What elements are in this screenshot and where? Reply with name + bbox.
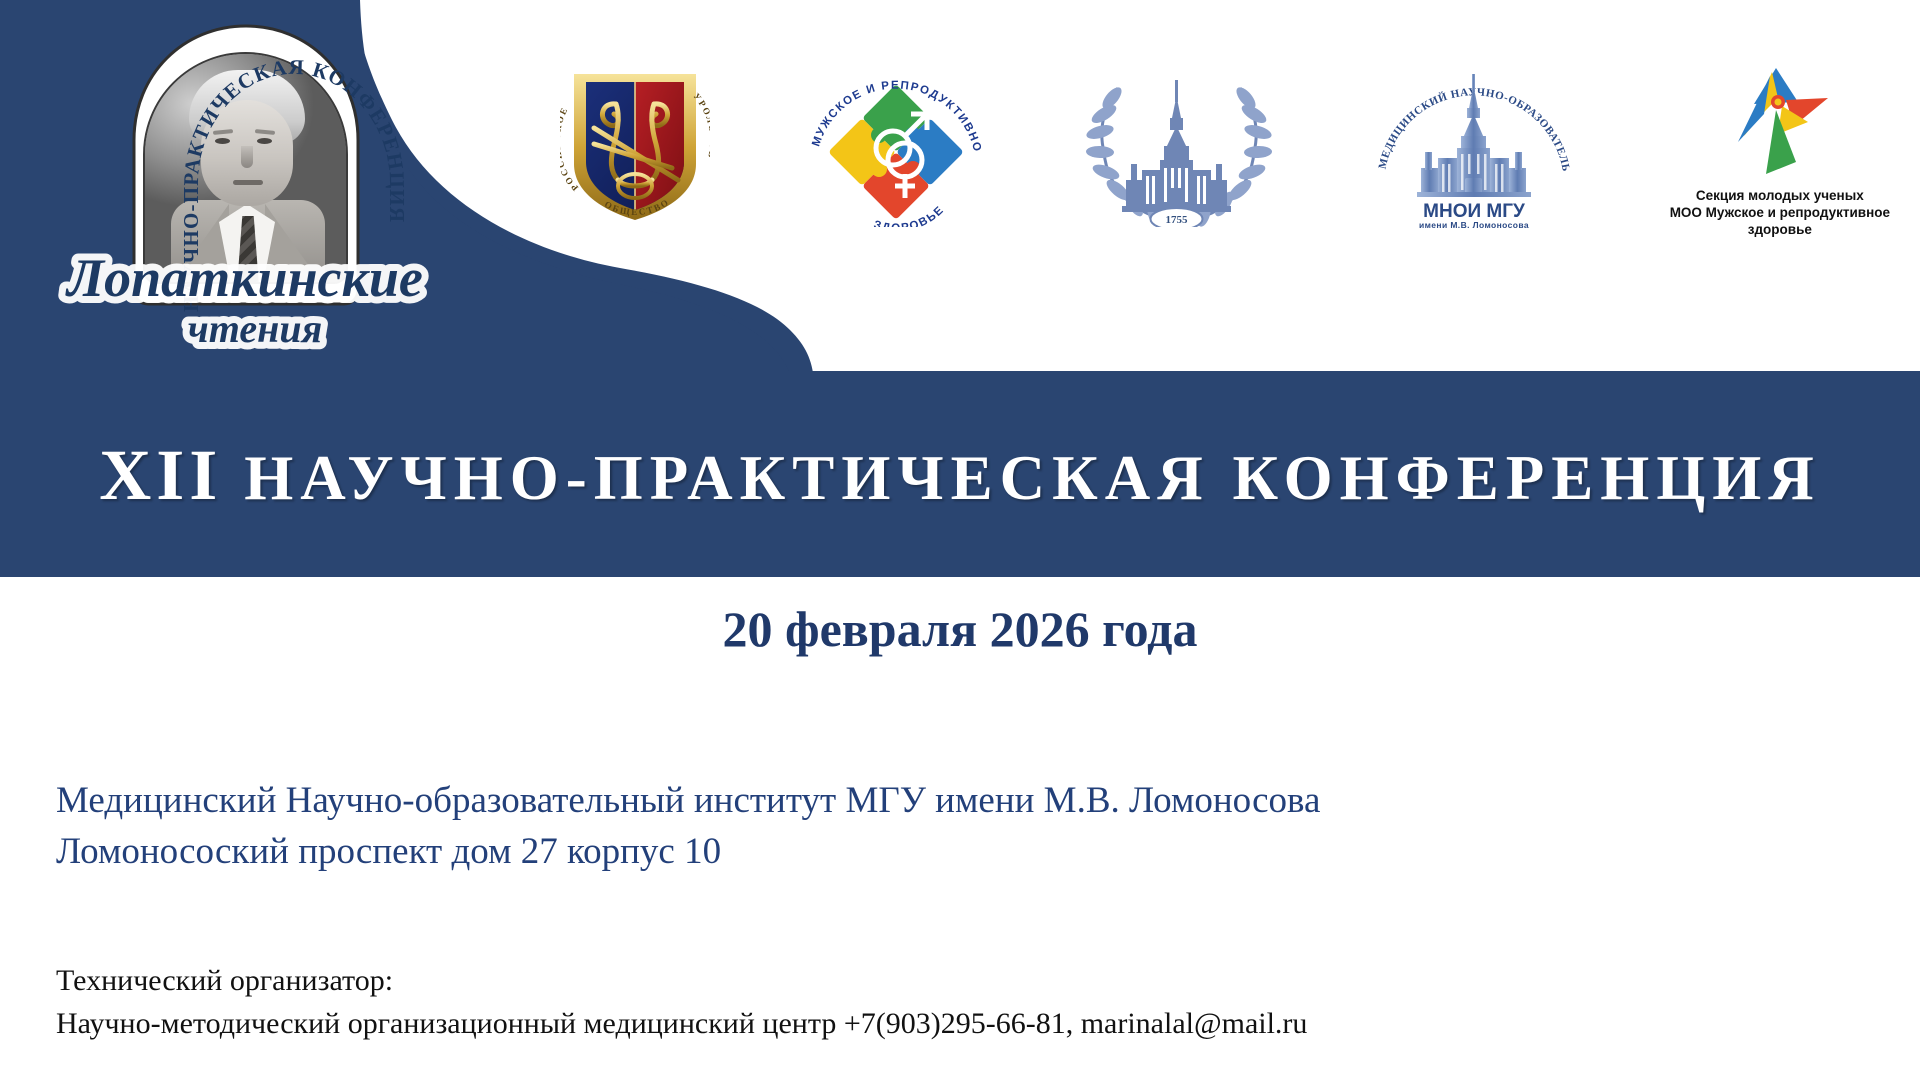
puzzle-health-icon: МУЖСКОЕ И РЕПРОДУКТИВНОЕ ЗДОРОВЬЕ: [801, 52, 991, 227]
organizer-block: Технический организатор: Научно-методиче…: [56, 960, 1756, 1045]
partner-logos-row: РОССИЙСКОЕ УРОЛОГОВ ОБЩЕСТВО: [560, 52, 1890, 272]
venue-block: Медицинский Научно-образовательный инсти…: [56, 775, 1756, 877]
script-line2: чтения: [188, 306, 322, 351]
conference-roman-numeral: XII: [99, 435, 222, 515]
origami-figure-icon: [1720, 52, 1840, 182]
header-area: НАУЧНО-ПРАКТИЧЕСКАЯ КОНФЕРЕНЦИЯ Лопаткин…: [0, 0, 1920, 371]
venue-line-2: Ломоносоский проспект дом 27 корпус 10: [56, 826, 1756, 877]
emblem-script-wordmark: Лопаткинские Лопаткинские чтения чтения: [50, 230, 440, 360]
logo-mnoi-mgu: МЕДИЦИНСКИЙ НАУЧНО-ОБРАЗОВАТЕЛЬНЫЙ ЦЕНТР: [1369, 52, 1579, 238]
conference-title: XIIНАУЧНО-ПРАКТИЧЕСКАЯ КОНФЕРЕНЦИЯ: [0, 434, 1920, 517]
msu-year: 1755: [1166, 214, 1189, 226]
logo-russian-urological-society: РОССИЙСКОЕ УРОЛОГОВ ОБЩЕСТВО: [560, 52, 710, 233]
venue-line-1: Медицинский Научно-образовательный инсти…: [56, 775, 1756, 826]
script-line1: Лопаткинские: [65, 248, 423, 308]
mnoi-subtitle: имени М.В. Ломоносова: [1418, 220, 1528, 230]
conference-date: 20 февраля 2026 года: [0, 600, 1920, 658]
mnoi-title: МНОИ МГУ: [1423, 201, 1525, 222]
msu-emblem-icon: 1755: [1082, 52, 1277, 227]
organizer-label: Технический организатор:: [56, 960, 1756, 1003]
conference-title-text: НАУЧНО-ПРАКТИЧЕСКАЯ КОНФЕРЕНЦИЯ: [244, 443, 1820, 513]
logo-young-scientists-section: Секция молодых ученых МОО Мужское и репр…: [1670, 52, 1890, 239]
mnoi-mgu-icon: МЕДИЦИНСКИЙ НАУЧНО-ОБРАЗОВАТЕЛЬНЫЙ ЦЕНТР: [1369, 52, 1579, 232]
urology-shield-icon: РОССИЙСКОЕ УРОЛОГОВ ОБЩЕСТВО: [560, 52, 710, 227]
logo-caption-young-scientists: Секция молодых ученых МОО Мужское и репр…: [1670, 188, 1890, 239]
logo-moscow-state-university: 1755: [1082, 52, 1277, 233]
organizer-details: Научно-методический организационный меди…: [56, 1003, 1756, 1046]
logo-male-reproductive-health: МУЖСКОЕ И РЕПРОДУКТИВНОЕ ЗДОРОВЬЕ: [801, 52, 991, 233]
lopatkin-readings-emblem: НАУЧНО-ПРАКТИЧЕСКАЯ КОНФЕРЕНЦИЯ Лопаткин…: [40, 12, 440, 362]
